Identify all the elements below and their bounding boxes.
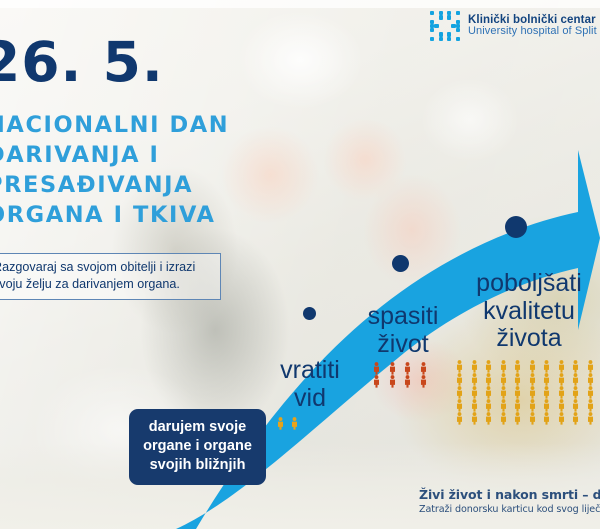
person-pictogram-icon [557, 412, 572, 425]
pictogram-group-vratiti-vid [276, 417, 304, 430]
person-pictogram-icon [499, 386, 514, 399]
pledge-line-3: svojih bližnjih [135, 456, 260, 475]
person-pictogram-icon [542, 373, 557, 386]
person-pictogram-icon [470, 412, 485, 425]
person-pictogram-icon [455, 373, 470, 386]
person-pictogram-icon [276, 417, 290, 430]
person-pictogram-icon [484, 360, 499, 373]
person-pictogram-icon [528, 399, 543, 412]
person-pictogram-icon [290, 417, 304, 430]
person-pictogram-icon [419, 362, 435, 375]
person-pictogram-icon [571, 386, 586, 399]
person-pictogram-icon [455, 412, 470, 425]
person-pictogram-icon [470, 373, 485, 386]
stage-vratiti-line2: vid [271, 385, 349, 413]
person-pictogram-icon [499, 399, 514, 412]
person-pictogram-icon [513, 412, 528, 425]
milestone-dot-2 [392, 255, 409, 272]
person-pictogram-icon [586, 373, 600, 386]
person-pictogram-icon [470, 360, 485, 373]
person-pictogram-icon [586, 412, 600, 425]
person-pictogram-icon [470, 399, 485, 412]
milestone-dot-1 [303, 307, 316, 320]
person-pictogram-icon [542, 360, 557, 373]
person-pictogram-icon [557, 360, 572, 373]
stage-vratiti-line1: vratiti [271, 357, 349, 385]
person-pictogram-icon [388, 375, 404, 388]
person-pictogram-icon [484, 399, 499, 412]
person-pictogram-icon [388, 362, 404, 375]
person-pictogram-icon [557, 386, 572, 399]
person-pictogram-icon [586, 399, 600, 412]
person-pictogram-icon [455, 399, 470, 412]
pledge-line-1: darujem svoje [135, 418, 260, 437]
stage-poboljsati-line1: poboljšati [455, 270, 600, 298]
person-pictogram-icon [571, 373, 586, 386]
person-pictogram-icon [484, 373, 499, 386]
person-pictogram-icon [403, 362, 419, 375]
person-pictogram-icon [513, 399, 528, 412]
pictogram-group-poboljsati-kvalitetu-zivota [455, 360, 600, 425]
person-pictogram-icon [499, 360, 514, 373]
person-pictogram-icon [571, 399, 586, 412]
slogan-primary: Živi život i nakon smrti – doniraj svoje [419, 487, 600, 502]
person-pictogram-icon [542, 412, 557, 425]
stage-spasiti-line2: život [358, 331, 448, 359]
stage-label-vratiti-vid: vratiti vid [271, 357, 349, 412]
person-pictogram-icon [528, 373, 543, 386]
upward-growth-arrow-icon [0, 0, 600, 529]
stage-label-spasiti-zivot: spasiti život [358, 303, 448, 358]
person-pictogram-icon [528, 386, 543, 399]
person-pictogram-icon [484, 412, 499, 425]
person-pictogram-icon [571, 360, 586, 373]
person-pictogram-icon [513, 360, 528, 373]
organ-donation-poster: Klinički bolnički centar University hosp… [0, 0, 600, 529]
person-pictogram-icon [499, 373, 514, 386]
person-pictogram-icon [499, 412, 514, 425]
person-pictogram-icon [455, 386, 470, 399]
person-pictogram-icon [372, 375, 388, 388]
person-pictogram-icon [528, 412, 543, 425]
person-pictogram-icon [528, 360, 543, 373]
person-pictogram-icon [419, 375, 435, 388]
person-pictogram-icon [455, 360, 470, 373]
person-pictogram-icon [484, 386, 499, 399]
slogan-secondary: Zatraži donorsku karticu kod svog liječn… [419, 504, 600, 515]
pledge-line-2: organe i organe [135, 437, 260, 456]
stage-spasiti-line1: spasiti [358, 303, 448, 331]
person-pictogram-icon [557, 373, 572, 386]
person-pictogram-icon [586, 386, 600, 399]
pledge-callout[interactable]: darujem svoje organe i organe svojih bli… [129, 409, 266, 485]
bottom-slogan: Živi život i nakon smrti – doniraj svoje… [419, 487, 600, 515]
person-pictogram-icon [403, 375, 419, 388]
stage-label-poboljsati-kvalitetu-zivota: poboljšati kvalitetu života [455, 270, 600, 353]
person-pictogram-icon [586, 360, 600, 373]
person-pictogram-icon [513, 386, 528, 399]
person-pictogram-icon [513, 373, 528, 386]
person-pictogram-icon [542, 399, 557, 412]
milestone-dot-3 [505, 216, 527, 238]
stage-poboljsati-line3: života [455, 325, 600, 353]
pictogram-group-spasiti-zivot [372, 362, 434, 388]
person-pictogram-icon [571, 412, 586, 425]
person-pictogram-icon [557, 399, 572, 412]
person-pictogram-icon [542, 386, 557, 399]
stage-poboljsati-line2: kvalitetu [455, 298, 600, 326]
person-pictogram-icon [470, 386, 485, 399]
person-pictogram-icon [372, 362, 388, 375]
